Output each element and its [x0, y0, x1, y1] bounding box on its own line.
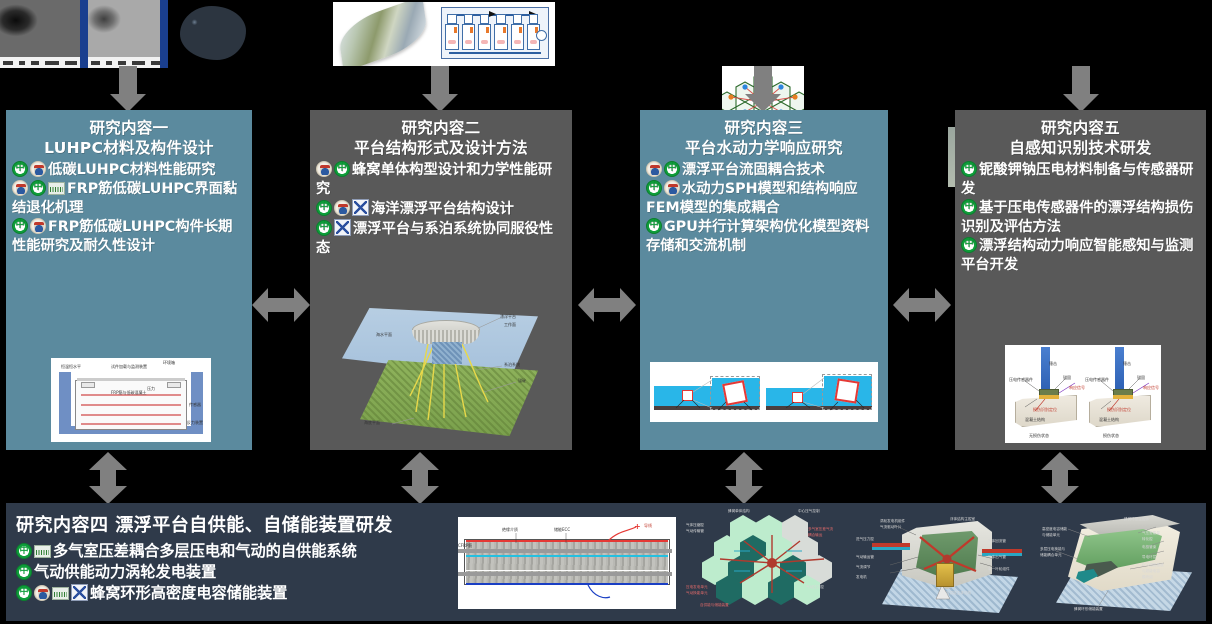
beam-label-sensor: 传感器 [189, 402, 201, 408]
bullet-text: 蜂窝单体构型设计和力学性能研究 [316, 162, 552, 197]
bullet-text: GPU并行计算架构优化模型资料存储和交流机制 [646, 219, 869, 254]
laminate-label-ecc: 储能ECC [554, 527, 570, 533]
wave-tank-right [766, 366, 874, 416]
panel-two-title: 研究内容二 平台结构形式及设计方法 [316, 118, 566, 159]
panel-one-title-line2: LUHPC材料及构件设计 [12, 138, 246, 158]
beam-label-env: 环境箱 [163, 360, 175, 366]
tc-label-4: 进气压力腔 [856, 537, 874, 542]
sensor-label-damage-r: 响应信号 [1143, 385, 1159, 391]
panel-one-bullet-1: 低碳LUHPC材料性能研究 [12, 161, 246, 180]
bullet-text: 基于压电传感器件的漂浮结构损伤识别及评估方法 [961, 200, 1193, 235]
hc-label-7: 压电发电单元 [686, 585, 708, 590]
composite-sheet-photo [333, 2, 433, 66]
tc-label-2: 气流驱动叶片 [880, 525, 902, 530]
double-arrow-three-five [893, 282, 951, 328]
st-label-7: 导电环层 [1142, 555, 1156, 560]
st-label-9: 与超级电容 [1142, 569, 1160, 574]
panel-four-bullet-2: 气动供能动力涡轮发电装置 [16, 562, 476, 583]
panel-three-title: 研究内容三 平台水动力学响应研究 [646, 118, 882, 159]
panel-four-bullets: 多气室压差耦合多层压电和气动的自供能系统 气动供能动力涡轮发电装置 蜂窝环形高密… [16, 541, 476, 604]
frp-luhpc-beam-test-diagram: 恒温恒水平 试件加载与监测装置 环境箱 FRP筋与低碳混凝土 压力 传感器 反力… [51, 358, 211, 442]
beam-water-left [59, 372, 71, 434]
double-arrow-two-three [578, 282, 636, 328]
panel-four-bullet-3: 蜂窝环形高密度电容储能装置 [16, 583, 476, 604]
panel-five-bullets: 铌酸钾钠压电材料制备与传感器研发 基于压电传感器件的漂浮结构损伤识别及评估方法 … [961, 161, 1200, 275]
sem-tab-1 [80, 0, 88, 68]
energy-storage-cutaway-diagram: 蜂窝环形主腔体 高密度电容储能 与储能单元 气压差能量 转化腔 电极管束 导电环… [1038, 507, 1212, 619]
tc-label-3: 浮体结构主腔室 [950, 517, 975, 522]
circuit-cell [462, 24, 475, 50]
crest-logo-icon [30, 218, 46, 234]
compass-logo-icon [352, 199, 369, 216]
bullet-text: 气动供能动力涡轮发电装置 [34, 563, 216, 581]
double-arrow-icon [578, 282, 636, 328]
sensor-label-case-l: 无损伤状态 [1029, 433, 1049, 439]
panel-five-bullet-1: 铌酸钾钠压电材料制备与传感器研发 [961, 161, 1200, 199]
bullet-text: 低碳LUHPC材料性能研究 [48, 162, 216, 178]
wave-tank-left [654, 366, 762, 416]
panel-three-bullet-3: GPU并行计算架构优化模型资料存储和交流机制 [646, 218, 882, 256]
sensor-label-crack2: 损伤识别定位 [1107, 407, 1131, 413]
hc-label-6: 耦合输运 [808, 533, 822, 538]
tc-label-5: 气动输运管 [856, 555, 874, 560]
plat-label-work: 工作面 [504, 322, 516, 328]
bullet-text: 蜂窝环形高密度电容储能装置 [90, 584, 287, 602]
circuit-flow-arrow-1 [489, 11, 496, 17]
sph-wave-tank-simulation-diagram [650, 362, 878, 422]
laminate-label-insulation: 绝缘介质 [502, 527, 518, 533]
storage-leader-lines [1038, 507, 1212, 619]
panel-five-bullet-2: 基于压电传感器件的漂浮结构损伤识别及评估方法 [961, 199, 1200, 237]
panel-two-title-line1: 研究内容二 [316, 118, 566, 138]
panel-three-title-line2: 平台水动力学响应研究 [646, 138, 882, 158]
st-label-8: ECC储能基底 [1142, 563, 1164, 568]
st-label-11: 多层压电换能与 [1040, 547, 1065, 552]
panel-five-title-line1: 研究内容五 [961, 118, 1200, 138]
tc-label-7: 发电机 [856, 575, 867, 580]
laminate-label-cfrp: CFRP筋 [458, 543, 472, 549]
double-arrow-vertical-icon [1034, 452, 1086, 504]
tc-label-11: 自供能主体结构 [946, 591, 971, 596]
green-logo-icon [12, 161, 28, 177]
panel-five-title-line2: 自感知识别技术研发 [961, 138, 1200, 158]
hc-label-9: 自供能与储能装置 [700, 603, 729, 608]
down-arrow-to-panel-two [422, 66, 458, 112]
figure-canvas: (样品标注) 研究内容一 LUHPC材料及构件设计 低碳LUHPC材料性能研究 … [0, 0, 1212, 624]
circuit-cell [478, 24, 491, 50]
panel-two-bullet-2: 海洋漂浮平台结构设计 [316, 199, 566, 219]
green-logo-icon [316, 220, 332, 236]
turbine-chamber-cutaway-diagram: 涡轮发电机组件 气流驱动叶片 浮体结构主腔室 进气压力腔 气动输运管 气流调节 … [854, 507, 1042, 619]
st-label-13: 蜂窝环形储能装置 [1074, 607, 1103, 612]
laminate-label-wire: 导线 [644, 523, 652, 529]
beam-reinforcement-bar [81, 414, 181, 416]
st-label-10: 模块组 [1142, 575, 1153, 580]
double-arrow-one-four [82, 452, 134, 504]
panel-two-bullet-3: 漂浮平台与系泊系统协同服役性态 [316, 219, 566, 258]
circuit-bottom-flowline [449, 52, 541, 54]
panel-two-bullets: 蜂窝单体构型设计和力学性能研究 海洋漂浮平台结构设计 漂浮平台与系泊系统协同服役… [316, 161, 566, 258]
panel-two-title-line2: 平台结构形式及设计方法 [316, 138, 566, 158]
plat-label-seabed: 海底平面 [364, 420, 380, 426]
panel-one-bullet-2: FRP筋低碳LUHPC界面黏结退化机理 [12, 180, 246, 218]
panel-research-three[interactable]: 研究内容三 平台水动力学响应研究 漂浮平台流固耦合技术 水动力SPH模型和结构响… [640, 110, 888, 450]
beam-top-plate [77, 378, 185, 381]
double-arrow-vertical-icon [82, 452, 134, 504]
sensor-label-sub-l: 锚固 [1063, 375, 1071, 381]
mooring-lines-right [766, 366, 874, 416]
hc-label-8: 气动换能单元 [686, 591, 708, 596]
st-label-3: 与储能单元 [1042, 533, 1060, 538]
beam-support-right [167, 382, 181, 388]
sem-scalebar-1 [0, 57, 88, 68]
floating-platform-mooring-3d-diagram: 海水平面 漂浮平台 工作面 系泊系统 锚碇 海底平面 [324, 292, 564, 442]
panel-one-bullet-3: FRP筋低碳LUHPC构件长期性能研究及耐久性设计 [12, 218, 246, 256]
sensor-label-hammer-l: 锤击 [1049, 361, 1057, 367]
sensor-label-struct-l: 混凝土结构 [1025, 417, 1045, 423]
plat-label-sea: 海水平面 [376, 332, 392, 338]
frp-ecc-laminate-electrode-diagram: + 导线 绝缘介质 储能ECC CFRP筋 [458, 517, 676, 609]
tc-label-6: 气流调节 [856, 565, 870, 570]
double-arrow-two-four [394, 452, 446, 504]
st-label-5: 转化腔 [1142, 537, 1153, 542]
panel-three-bullet-1: 漂浮平台流固耦合技术 [646, 161, 882, 180]
green-logo-icon [664, 161, 680, 177]
powder-blob [180, 6, 246, 60]
sensor-label-sub-r: 锚固 [1137, 375, 1145, 381]
panel-one-title-line1: 研究内容一 [12, 118, 246, 138]
tc-label-10: 单一叶轮组件 [988, 567, 1010, 572]
double-arrow-three-four [718, 452, 770, 504]
panel-two-bullet-1: 蜂窝单体构型设计和力学性能研究 [316, 161, 566, 199]
mooring-lines-svg [324, 292, 564, 442]
panel-research-five[interactable]: 研究内容五 自感知识别技术研发 铌酸钾钠压电材料制备与传感器研发 基于压电传感器… [955, 110, 1206, 450]
beam-support-left [81, 382, 95, 388]
compass-logo-icon [334, 219, 351, 236]
pneumatic-circuit-diagram [433, 2, 555, 66]
sem-tab-2 [160, 0, 168, 68]
plat-label-mooring: 系泊系统 [504, 362, 520, 368]
circuit-cell [445, 24, 458, 50]
hc-label-3: 气体压缩腔 [686, 523, 704, 528]
crest-logo-icon [646, 161, 662, 177]
beam-reinforcement-bar [81, 404, 181, 406]
beam-label-load: 压力 [147, 386, 155, 392]
panel-research-two[interactable]: 研究内容二 平台结构形式及设计方法 蜂窝单体构型设计和力学性能研究 海洋漂浮平台… [310, 110, 572, 450]
green-logo-icon [16, 585, 32, 601]
sensor-label-crack: 损伤识别定位 [1033, 407, 1057, 413]
panel-research-one[interactable]: 研究内容一 LUHPC材料及构件设计 低碳LUHPC材料性能研究 FRP筋低碳L… [6, 110, 252, 450]
panel-four-bullet-1: 多气室压差耦合多层压电和气动的自供能系统 [16, 541, 476, 562]
st-label-2: 高密度电容储能 [1042, 527, 1067, 532]
down-arrow-to-panel-one [110, 66, 146, 112]
crest-logo-icon [334, 200, 350, 216]
lab-logo-icon [52, 587, 69, 600]
green-logo-icon [12, 218, 28, 234]
green-logo-icon [646, 218, 662, 234]
green-logo-icon [961, 237, 977, 253]
green-logo-icon [16, 564, 32, 580]
wire-plus-icon: + [634, 522, 641, 531]
green-logo-icon [30, 180, 46, 196]
st-label-6: 电极管束 [1142, 545, 1156, 550]
green-logo-icon [316, 200, 332, 216]
turbine-rotor [936, 563, 954, 587]
panel-five-title: 研究内容五 自感知识别技术研发 [961, 118, 1200, 159]
sem-micrograph-1 [0, 0, 88, 68]
panel-three-bullets: 漂浮平台流固耦合技术 水动力SPH模型和结构响应FEM模型的集成耦合 GPU并行… [646, 161, 882, 256]
lab-logo-icon [48, 182, 65, 195]
sensor-label-damage-l: 响应信号 [1069, 385, 1085, 391]
beam-label-water: 恒温恒水平 [61, 364, 81, 370]
crest-logo-icon [12, 180, 28, 196]
double-arrow-vertical-icon [718, 452, 770, 504]
mooring-lines-left [654, 366, 762, 416]
st-label-1: 蜂窝环形主腔体 [1124, 517, 1149, 522]
double-arrow-five-four [1034, 452, 1086, 504]
tc-label-9: 气体出气管 [988, 555, 1006, 560]
bullet-text: 漂浮平台流固耦合技术 [682, 162, 825, 178]
platform-submerged-body [432, 342, 462, 364]
piezoelectric-sensor-test-diagram: 锤击 锤击 压电传感器件 压电传感器件 锚固 锚固 响应信号 响应信号 损伤识别… [1005, 345, 1161, 443]
hc-label-1: 蜂窝单体结构 [728, 509, 750, 514]
panel-five-bullet-3: 漂浮结构动力响应智能感知与监测平台开发 [961, 237, 1200, 275]
bullet-text: 铌酸钾钠压电材料制备与传感器研发 [961, 162, 1193, 197]
bullet-text: 海洋漂浮平台结构设计 [371, 201, 514, 217]
green-logo-icon [961, 161, 977, 177]
sensor-label-piezo-l: 压电传感器件 [1009, 377, 1033, 383]
hc-label-4: 气动传输管 [686, 529, 704, 534]
plat-label-platform: 漂浮平台 [500, 314, 516, 320]
bullet-text: 多气室压差耦合多层压电和气动的自供能系统 [53, 542, 357, 560]
sensor-label-case-r: 损伤状态 [1103, 433, 1119, 439]
bullet-text: 漂浮结构动力响应智能感知与监测平台开发 [961, 238, 1193, 273]
panel-one-title: 研究内容一 LUHPC材料及构件设计 [12, 118, 246, 159]
circuit-cell [494, 24, 507, 50]
down-arrow-to-panel-three [745, 66, 781, 112]
green-logo-icon [16, 543, 32, 559]
hc-label-10: 气动压力腔 [806, 585, 824, 590]
circuit-generator-icon [536, 30, 547, 41]
sensor-label-struct-r: 混凝土结构 [1099, 417, 1119, 423]
panel-three-bullet-2: 水动力SPH模型和结构响应FEM模型的集成耦合 [646, 180, 882, 218]
sensor-label-hammer-r: 锤击 [1123, 361, 1131, 367]
powder-sample-photo [172, 0, 254, 66]
green-logo-icon [646, 180, 662, 196]
st-label-12: 储能耦合单元 [1040, 553, 1062, 558]
double-arrow-vertical-icon [394, 452, 446, 504]
sensor-label-piezo-r: 压电传感器件 [1085, 377, 1109, 383]
crest-logo-icon [34, 585, 50, 601]
sem-micrograph-2 [88, 0, 168, 68]
honeycomb-air-chamber-array-diagram: 蜂窝单体结构 中心压气控制 气体压缩腔 气动传输管 多气室压差气流 耦合输运 压… [684, 509, 860, 615]
green-logo-icon [334, 161, 350, 177]
hc-label-5: 多气室压差气流 [808, 527, 833, 532]
down-arrow-to-panel-five [1063, 66, 1099, 112]
green-logo-icon [961, 199, 977, 215]
beam-label-bottom: 反力装置 [187, 420, 203, 426]
plat-label-anchor: 锚碇 [518, 378, 526, 384]
sheet-shape [337, 2, 429, 66]
tc-label-1: 涡轮发电机组件 [880, 519, 905, 524]
beam-reinforcement-bar [81, 423, 181, 425]
st-label-4: 气压差能量 [1142, 531, 1160, 536]
lab-logo-icon [34, 545, 51, 558]
panel-three-title-line1: 研究内容三 [646, 118, 882, 138]
sensor-leader-lines [1005, 345, 1161, 443]
beam-label-spec: 试件加载与监测装置 [111, 364, 147, 370]
hc-label-2: 中心压气控制 [798, 509, 820, 514]
panel-one-bullets: 低碳LUHPC材料性能研究 FRP筋低碳LUHPC界面黏结退化机理 FRP筋低碳… [12, 161, 246, 256]
crest-logo-icon [664, 180, 680, 196]
panel-research-four[interactable]: 研究内容四 漂浮平台自供能、自储能装置研发 多气室压差耦合多层压电和气动的自供能… [6, 503, 1206, 621]
crest-logo-icon [316, 161, 332, 177]
tc-label-8: 气体回流管 [988, 539, 1006, 544]
bullet-text: 漂浮平台与系泊系统协同服役性态 [316, 221, 553, 256]
circuit-cell-row [445, 24, 540, 50]
compass-logo-icon [71, 584, 88, 601]
honeycomb-pipe-network [684, 509, 860, 615]
double-arrow-icon [893, 282, 951, 328]
crest-logo-icon [30, 161, 46, 177]
circuit-cell [511, 24, 524, 50]
double-arrow-one-two [252, 282, 310, 328]
double-arrow-icon [252, 282, 310, 328]
beam-label-frp: FRP筋与低碳混凝土 [111, 390, 147, 396]
